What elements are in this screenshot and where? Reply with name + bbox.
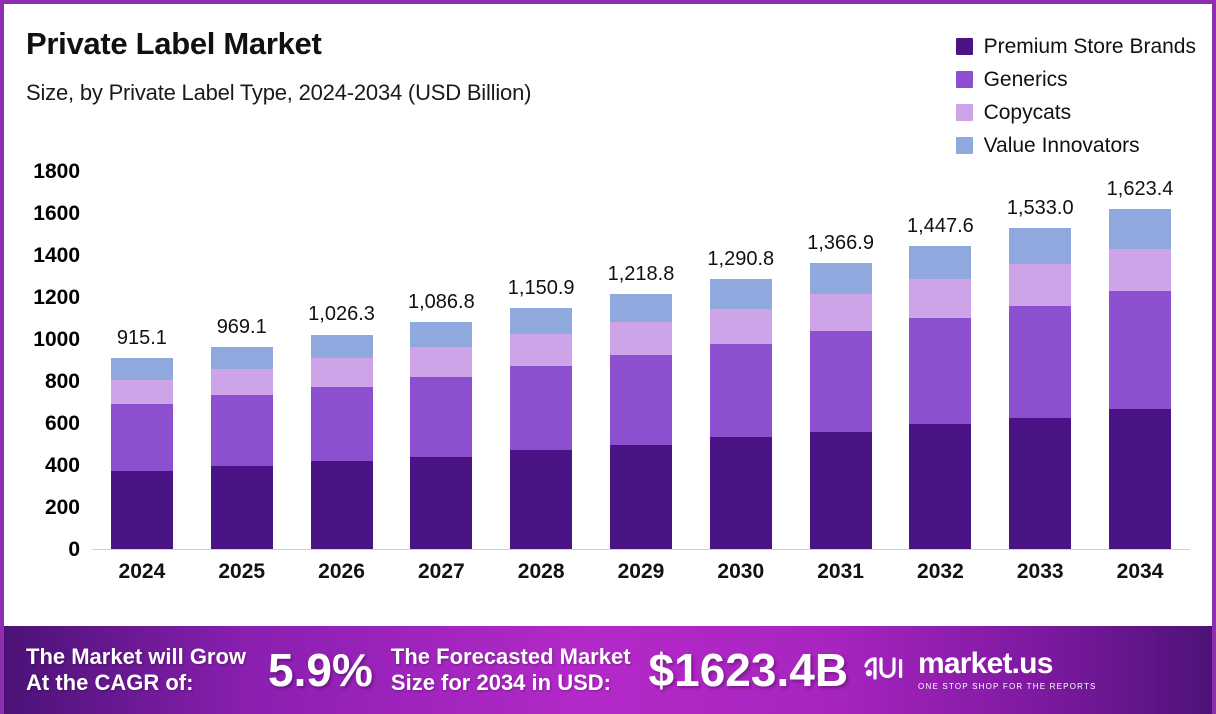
bar-segment-value-innovators[interactable]	[710, 279, 772, 309]
market-us-mark-icon	[862, 653, 908, 688]
bar-column-2028[interactable]: 1,150.9	[491, 172, 591, 550]
bar-segment-generics[interactable]	[909, 318, 971, 424]
legend-swatch-icon	[956, 38, 973, 55]
bar-segment-generics[interactable]	[610, 355, 672, 445]
bar-segment-value-innovators[interactable]	[311, 335, 373, 359]
y-axis-tick: 1800	[33, 160, 80, 184]
y-axis-tick: 0	[68, 538, 80, 562]
bar-segment-generics[interactable]	[810, 331, 872, 432]
bar-total-label: 1,366.9	[807, 232, 874, 255]
x-axis-tick-2025: 2025	[192, 560, 292, 600]
y-axis-tick: 200	[45, 496, 80, 520]
x-axis: 2024202520262027202820292030203120322033…	[92, 560, 1190, 600]
legend-item-1[interactable]: Generics	[956, 63, 1196, 96]
y-axis-tick: 1400	[33, 244, 80, 268]
legend-swatch-icon	[956, 104, 973, 121]
footer-banner: The Market will Grow At the CAGR of: 5.9…	[4, 626, 1216, 714]
x-axis-tick-2027: 2027	[391, 560, 491, 600]
bar-group: 915.1969.11,026.31,086.81,150.91,218.81,…	[92, 172, 1190, 550]
bar-segment-premium-store-brands[interactable]	[510, 450, 572, 550]
bar-stack	[610, 294, 672, 550]
bar-column-2034[interactable]: 1,623.4	[1090, 172, 1190, 550]
bar-segment-value-innovators[interactable]	[510, 308, 572, 334]
bar-column-2025[interactable]: 969.1	[192, 172, 292, 550]
bar-segment-generics[interactable]	[111, 404, 173, 471]
plot-area: 915.1969.11,026.31,086.81,150.91,218.81,…	[92, 172, 1190, 550]
bar-segment-premium-store-brands[interactable]	[1109, 409, 1171, 550]
y-axis-tick: 600	[45, 412, 80, 436]
bar-segment-premium-store-brands[interactable]	[810, 432, 872, 550]
bar-column-2029[interactable]: 1,218.8	[591, 172, 691, 550]
page-title: Private Label Market	[26, 26, 322, 62]
bar-stack	[410, 322, 472, 550]
bar-segment-premium-store-brands[interactable]	[710, 437, 772, 550]
bar-total-label: 1,218.8	[608, 263, 675, 286]
bar-total-label: 1,086.8	[408, 291, 475, 314]
bar-segment-value-innovators[interactable]	[410, 322, 472, 347]
bar-segment-copycats[interactable]	[610, 322, 672, 355]
bar-segment-value-innovators[interactable]	[211, 347, 273, 369]
x-axis-tick-2028: 2028	[491, 560, 591, 600]
bar-total-label: 1,026.3	[308, 303, 375, 326]
bar-segment-copycats[interactable]	[810, 294, 872, 331]
bar-segment-copycats[interactable]	[111, 380, 173, 405]
market-us-logo[interactable]: market.us ONE STOP SHOP FOR THE REPORTS	[862, 649, 1097, 691]
y-axis: 180016001400120010008006004002000	[4, 164, 92, 554]
bar-stack	[311, 334, 373, 550]
chart-infographic: Private Label Market Size, by Private La…	[0, 0, 1216, 714]
forecast-value: $1623.4B	[649, 643, 849, 697]
legend-item-label: Copycats	[984, 101, 1072, 125]
x-axis-tick-2032: 2032	[891, 560, 991, 600]
bar-column-2026[interactable]: 1,026.3	[292, 172, 392, 550]
bar-segment-generics[interactable]	[410, 377, 472, 457]
logo-tagline: ONE STOP SHOP FOR THE REPORTS	[918, 682, 1097, 691]
bar-total-label: 915.1	[117, 327, 167, 350]
bar-column-2024[interactable]: 915.1	[92, 172, 192, 550]
bar-segment-copycats[interactable]	[1109, 249, 1171, 291]
bar-segment-premium-store-brands[interactable]	[610, 445, 672, 550]
chart-legend: Premium Store BrandsGenericsCopycatsValu…	[956, 30, 1196, 162]
bar-stack	[111, 358, 173, 550]
bar-stack	[1109, 209, 1171, 550]
legend-swatch-icon	[956, 71, 973, 88]
bar-segment-copycats[interactable]	[1009, 264, 1071, 306]
legend-item-label: Value Innovators	[984, 134, 1140, 158]
y-axis-tick: 1000	[33, 328, 80, 352]
bar-segment-generics[interactable]	[510, 366, 572, 450]
bar-segment-generics[interactable]	[311, 387, 373, 462]
x-axis-tick-2024: 2024	[92, 560, 192, 600]
legend-item-3[interactable]: Value Innovators	[956, 129, 1196, 162]
bar-segment-generics[interactable]	[1109, 291, 1171, 408]
bar-segment-value-innovators[interactable]	[1009, 228, 1071, 264]
legend-item-label: Generics	[984, 68, 1068, 92]
bar-stack	[1009, 228, 1071, 550]
bar-segment-premium-store-brands[interactable]	[909, 424, 971, 550]
bar-column-2032[interactable]: 1,447.6	[891, 172, 991, 550]
legend-item-0[interactable]: Premium Store Brands	[956, 30, 1196, 63]
bar-segment-copycats[interactable]	[311, 358, 373, 386]
bar-segment-premium-store-brands[interactable]	[1009, 418, 1071, 550]
bar-total-label: 969.1	[217, 316, 267, 339]
bar-segment-generics[interactable]	[710, 344, 772, 437]
x-axis-tick-2034: 2034	[1090, 560, 1190, 600]
x-axis-tick-2031: 2031	[791, 560, 891, 600]
bar-segment-copycats[interactable]	[410, 347, 472, 377]
bar-segment-premium-store-brands[interactable]	[211, 466, 273, 550]
bar-stack	[510, 308, 572, 550]
bar-column-2033[interactable]: 1,533.0	[990, 172, 1090, 550]
bar-segment-value-innovators[interactable]	[909, 246, 971, 279]
bar-total-label: 1,623.4	[1107, 178, 1174, 201]
bar-segment-premium-store-brands[interactable]	[410, 457, 472, 550]
cagr-label: The Market will Grow At the CAGR of:	[26, 644, 246, 696]
bar-column-2030[interactable]: 1,290.8	[691, 172, 791, 550]
x-axis-tick-2029: 2029	[591, 560, 691, 600]
bar-stack	[810, 263, 872, 550]
page-subtitle: Size, by Private Label Type, 2024-2034 (…	[26, 80, 531, 106]
bar-segment-value-innovators[interactable]	[111, 358, 173, 380]
bar-segment-copycats[interactable]	[211, 369, 273, 396]
bar-segment-value-innovators[interactable]	[1109, 209, 1171, 249]
bar-stack	[710, 279, 772, 550]
bar-column-2027[interactable]: 1,086.8	[391, 172, 491, 550]
legend-item-label: Premium Store Brands	[984, 35, 1196, 59]
logo-name: market.us	[918, 649, 1097, 679]
bar-column-2031[interactable]: 1,366.9	[791, 172, 891, 550]
y-axis-tick: 400	[45, 454, 80, 478]
bar-segment-copycats[interactable]	[710, 309, 772, 344]
bar-total-label: 1,447.6	[907, 215, 974, 238]
bar-segment-premium-store-brands[interactable]	[311, 461, 373, 550]
bar-segment-generics[interactable]	[1009, 306, 1071, 418]
cagr-label-line2: At the CAGR of:	[26, 670, 246, 696]
x-axis-tick-2026: 2026	[292, 560, 392, 600]
bar-total-label: 1,533.0	[1007, 197, 1074, 220]
bar-segment-value-innovators[interactable]	[810, 263, 872, 294]
bar-total-label: 1,150.9	[508, 277, 575, 300]
bar-segment-generics[interactable]	[211, 395, 273, 466]
forecast-label-line2: Size for 2034 in USD:	[391, 670, 631, 696]
bar-segment-premium-store-brands[interactable]	[111, 471, 173, 550]
legend-item-2[interactable]: Copycats	[956, 96, 1196, 129]
bar-segment-value-innovators[interactable]	[610, 294, 672, 322]
cagr-label-line1: The Market will Grow	[26, 644, 246, 670]
forecast-label-line1: The Forecasted Market	[391, 644, 631, 670]
bar-segment-copycats[interactable]	[909, 279, 971, 318]
y-axis-tick: 1200	[33, 286, 80, 310]
x-axis-tick-2033: 2033	[990, 560, 1090, 600]
bar-stack	[211, 347, 273, 551]
forecast-label: The Forecasted Market Size for 2034 in U…	[391, 644, 631, 696]
cagr-value: 5.9%	[268, 643, 373, 697]
y-axis-tick: 800	[45, 370, 80, 394]
bar-stack	[909, 246, 971, 550]
bar-segment-copycats[interactable]	[510, 334, 572, 366]
x-axis-line	[92, 549, 1190, 550]
bar-total-label: 1,290.8	[707, 248, 774, 271]
y-axis-tick: 1600	[33, 202, 80, 226]
x-axis-tick-2030: 2030	[691, 560, 791, 600]
legend-swatch-icon	[956, 137, 973, 154]
